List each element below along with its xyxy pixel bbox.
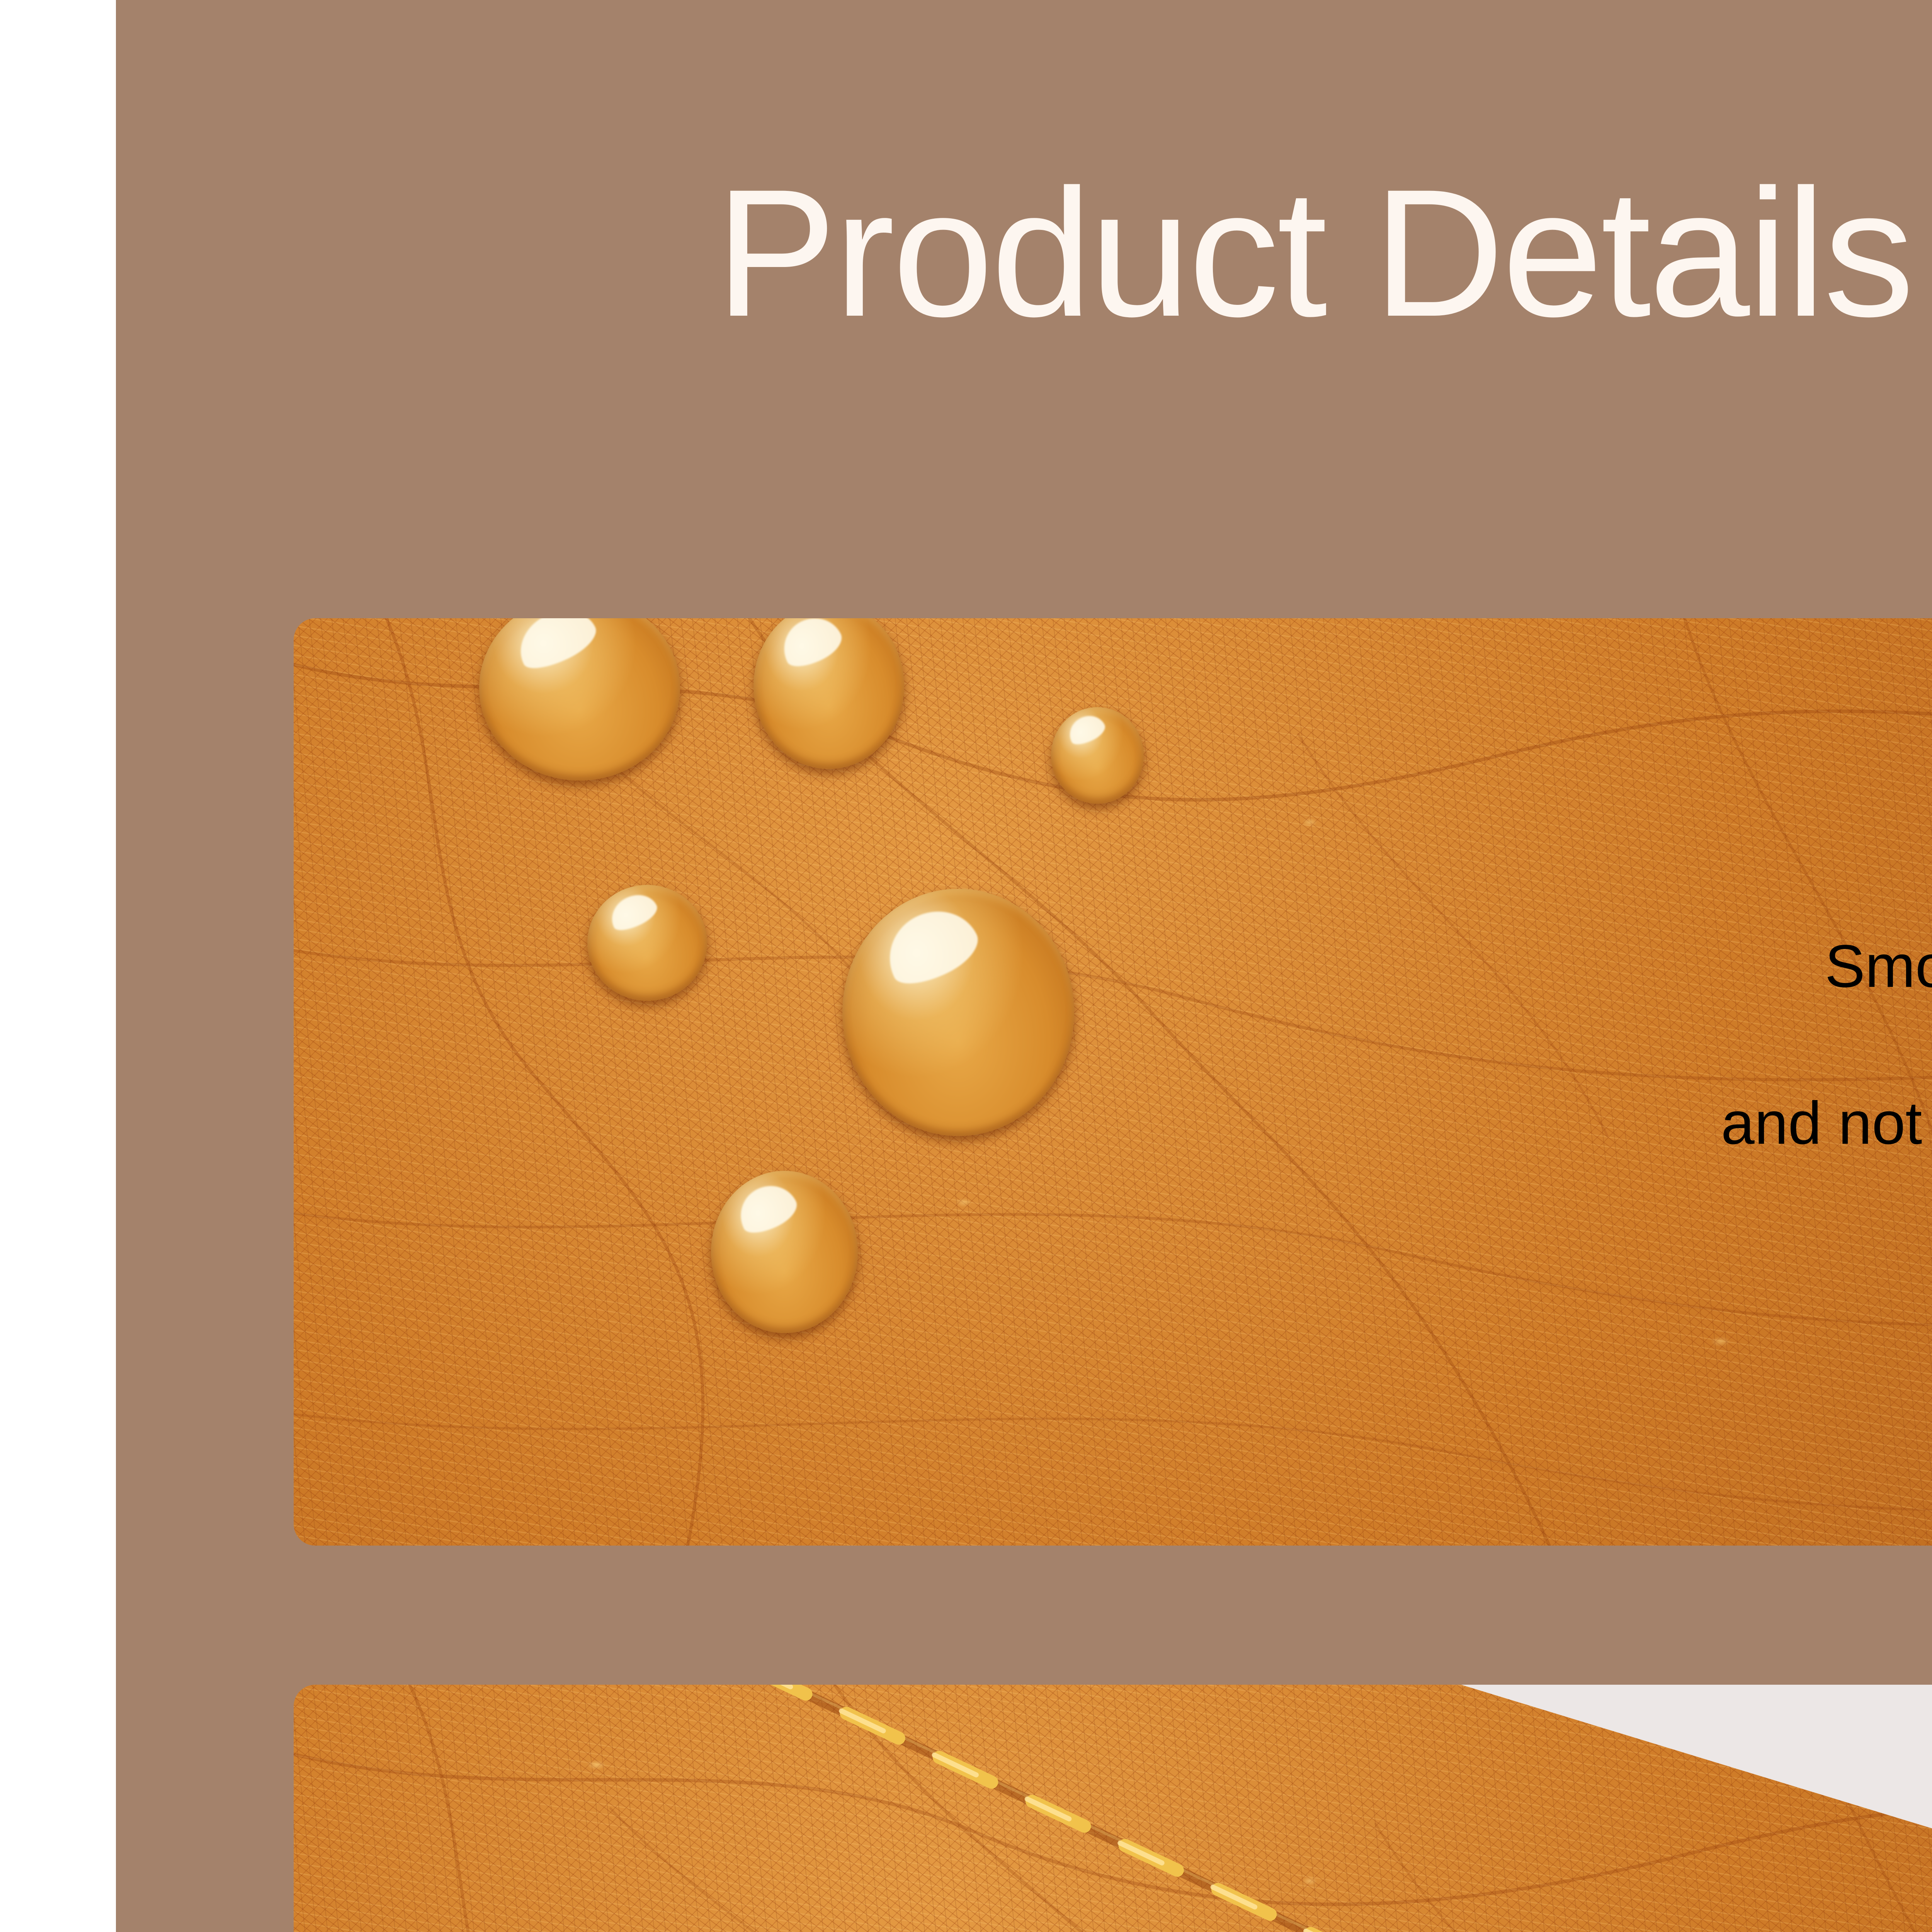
water-droplet bbox=[1051, 707, 1144, 804]
product-details-page: Product Details Soft l bbox=[0, 0, 1932, 1932]
card-soft-leather-body: Smooth to the touch water-resistant and … bbox=[1721, 927, 1932, 1162]
water-droplet bbox=[711, 1171, 858, 1333]
card-soft-leather-body-line: water-resistant bbox=[1721, 1006, 1932, 1084]
card-soft-leather-body-line: and not easy to get dirty bbox=[1721, 1084, 1932, 1163]
card-stitching: Exquisite stitching craftsmanship The ex… bbox=[294, 1685, 1932, 1932]
water-droplet bbox=[842, 889, 1074, 1136]
card-soft-leather-body-line: Smooth to the touch bbox=[1721, 927, 1932, 1006]
water-droplet bbox=[587, 885, 707, 1001]
page-title: Product Details bbox=[116, 162, 1932, 344]
card-soft-leather: Soft leather Smooth to the touch water-r… bbox=[294, 618, 1932, 1546]
